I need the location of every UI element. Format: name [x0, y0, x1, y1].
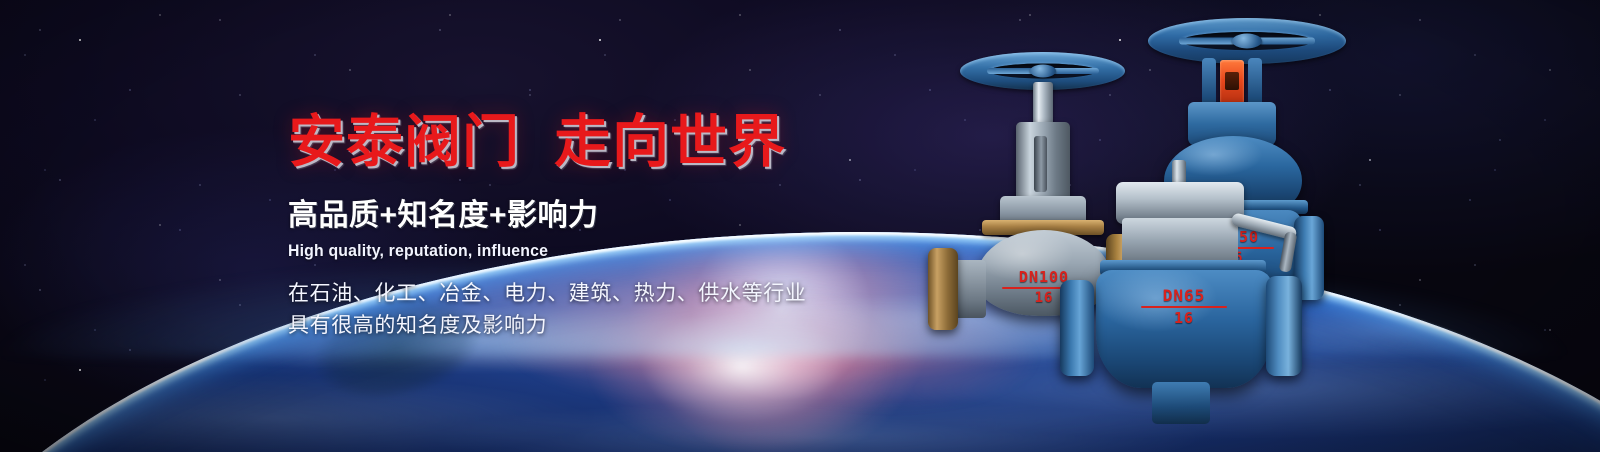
pipe-flange-left — [928, 248, 958, 330]
valve-marking: DN65 16 — [1096, 286, 1272, 327]
description-line-1: 在石油、化工、冶金、电力、建筑、热力、供水等行业 — [288, 278, 928, 310]
handwheel-hub — [1232, 34, 1262, 49]
valve-mark-rule — [1141, 306, 1227, 308]
product-control-valve-dn65: DN65 16 — [1060, 160, 1350, 452]
page-title: 安泰阀门走向世界 — [288, 112, 928, 172]
pipe-flange-left — [1060, 280, 1094, 376]
valve-bottom-cap — [1152, 382, 1210, 424]
valve-size-mark: DN65 — [1096, 286, 1272, 305]
promo-banner: 安泰阀门走向世界 高品质+知名度+影响力 High quality, reput… — [0, 0, 1600, 452]
subtitle-chinese: 高品质+知名度+影响力 — [288, 190, 928, 234]
actuator-housing — [1122, 218, 1238, 264]
product-showcase: DN150 16 DN100 — [900, 0, 1600, 452]
banner-copy: 安泰阀门走向世界 高品质+知名度+影响力 High quality, reput… — [288, 112, 928, 342]
subtitle-english: High quality, reputation, influence — [288, 241, 883, 261]
position-indicator — [1220, 60, 1244, 104]
description-line-2: 具有很高的知名度及影响力 — [288, 310, 928, 342]
description-block: 在石油、化工、冶金、电力、建筑、热力、供水等行业 具有很高的知名度及影响力 — [288, 278, 928, 342]
headline-left: 安泰阀门 — [288, 110, 520, 174]
headline-right: 走向世界 — [554, 110, 786, 174]
valve-pressure-mark: 16 — [1096, 309, 1272, 327]
handwheel-hub — [1030, 65, 1056, 78]
